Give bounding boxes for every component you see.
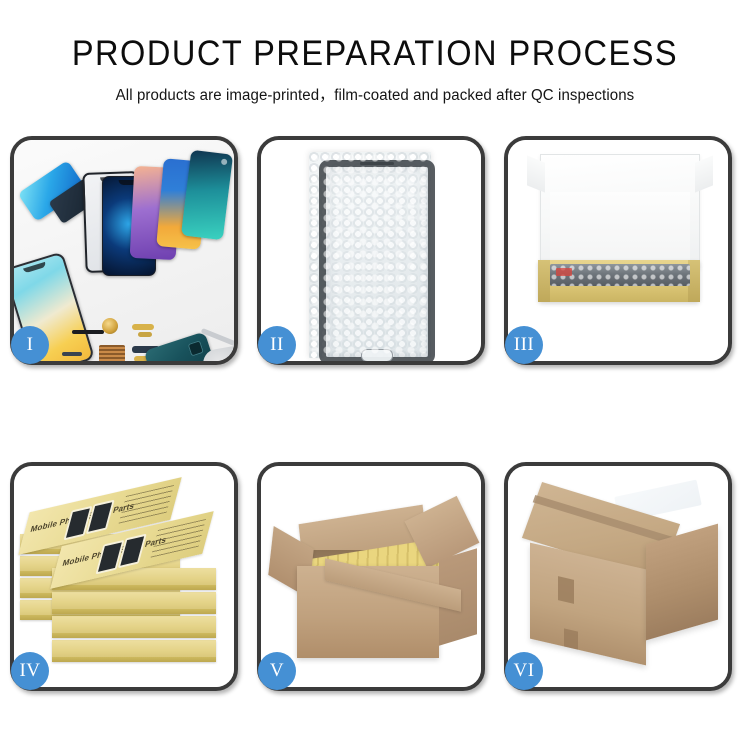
- step-panel-2: II: [257, 136, 485, 365]
- foam-insert: [550, 192, 690, 262]
- box-edge: [52, 585, 216, 590]
- part-antenna-bar: [72, 330, 104, 334]
- page-title: PRODUCT PREPARATION PROCESS: [26, 36, 724, 73]
- box-label-spec-lines: [151, 519, 206, 558]
- home-button-icon: [361, 349, 393, 361]
- box-label-phone-image: [118, 534, 147, 569]
- part-speaker: [102, 318, 118, 334]
- step-panel-3: III: [504, 136, 732, 365]
- step-panel-1: I: [10, 136, 238, 365]
- wrapped-screen-in-box: [550, 264, 690, 286]
- step-badge-2: II: [258, 326, 296, 364]
- step-4-image: Mobile Phone Spare Parts Mobile Phone Sp…: [14, 466, 234, 687]
- step-badge-3: III: [505, 326, 543, 364]
- part-cable: [62, 352, 82, 356]
- box-edge: [52, 633, 216, 638]
- page-subtitle: All products are image-printed，film-coat…: [11, 83, 739, 105]
- part-copper-grid: [99, 345, 125, 361]
- stacked-box: [52, 616, 216, 638]
- phone-notch-icon: [23, 262, 47, 274]
- part-flex-cable-gold: [132, 324, 154, 330]
- step-badge-5: V: [258, 652, 296, 690]
- part-flex-cable-small: [138, 332, 152, 337]
- step-badge-6: VI: [505, 652, 543, 690]
- box-stack: Mobile Phone Spare Parts Mobile Phone Sp…: [20, 490, 232, 684]
- step-panel-6: VI: [504, 462, 732, 691]
- box-edge: [52, 609, 216, 614]
- page-header: PRODUCT PREPARATION PROCESS All products…: [0, 0, 750, 105]
- step-badge-4: IV: [11, 652, 49, 690]
- wrapped-phone-screen: [319, 160, 435, 361]
- box-edge: [52, 657, 216, 662]
- sealed-carton-side: [646, 524, 718, 641]
- step-1-image: [14, 140, 234, 361]
- phone-camera-icon: [221, 159, 228, 166]
- step-2-image: [261, 140, 481, 361]
- process-steps-grid: I II III M: [10, 136, 740, 691]
- box-label-phone-image: [86, 500, 115, 535]
- stacked-box: [52, 640, 216, 662]
- step-3-image: [508, 140, 728, 361]
- stacked-box: [52, 592, 216, 614]
- step-badge-1: I: [11, 326, 49, 364]
- step-panel-5: V: [257, 462, 485, 691]
- step-5-image: [261, 466, 481, 687]
- carton-tape-patch-1: [558, 576, 574, 604]
- step-panel-4: Mobile Phone Spare Parts Mobile Phone Sp…: [10, 462, 238, 691]
- carton-tape-patch-2: [564, 628, 578, 649]
- step-6-image: [508, 466, 728, 687]
- phone-screen-teal: [181, 150, 233, 240]
- box-label-spec-lines: [119, 485, 174, 524]
